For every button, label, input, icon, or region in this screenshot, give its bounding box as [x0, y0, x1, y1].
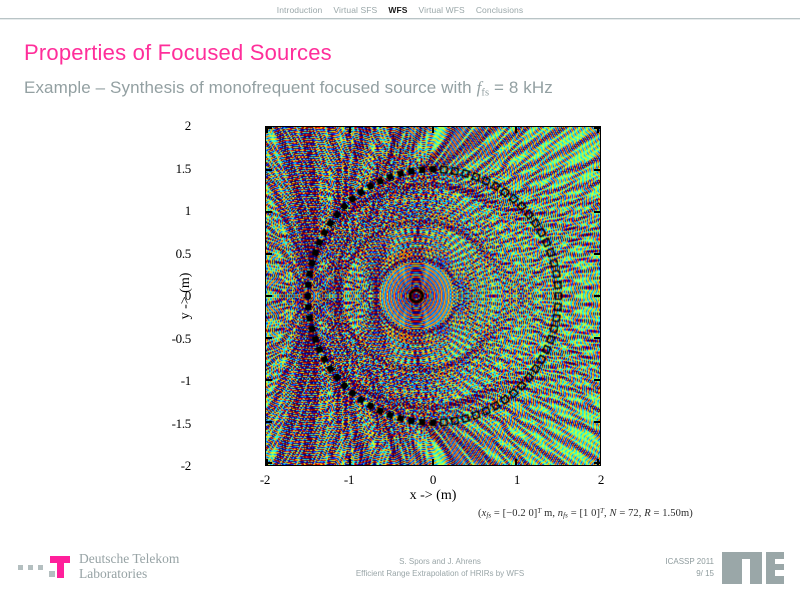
nav-item-virtual-sfs[interactable]: Virtual SFS	[333, 5, 377, 15]
subtitle-text-pre: Example – Synthesis of monofrequent focu…	[24, 78, 477, 97]
ytick-mark-0-5	[266, 253, 272, 255]
xtick-label-neg1: -1	[344, 472, 354, 488]
xtick-mark-top-neg1	[349, 127, 351, 133]
ytick-label-2: 2	[185, 118, 191, 134]
logo-dots-icon	[18, 565, 43, 570]
ytick-mark-1-5	[266, 169, 272, 171]
ytick-mark-neg0-5	[266, 337, 272, 339]
figure-caption: (xfs = [−0.2 0]T m, nfs = [1 0]T, N = 72…	[478, 508, 693, 520]
xtick-label-1: 1	[514, 472, 520, 488]
footer-page-number: 9/ 15	[665, 568, 714, 580]
ytick-mark-neg1-5	[266, 421, 272, 423]
logo-line-1: Deutsche Telekom	[79, 552, 179, 567]
nav-item-conclusions[interactable]: Conclusions	[476, 5, 523, 15]
xtick-mark-top-0	[432, 127, 434, 133]
ytick-mark-right-neg1-5	[594, 421, 600, 423]
xtick-mark-neg1	[349, 459, 351, 465]
deutsche-telekom-logo: Deutsche Telekom Laboratories	[18, 550, 179, 584]
top-navigation: Introduction Virtual SFS WFS Virtual WFS…	[0, 0, 800, 19]
ytick-label-0-5: 0.5	[176, 246, 191, 262]
t-icon-stem	[57, 556, 64, 578]
footer-conference: ICASSP 2011	[665, 556, 714, 568]
plot-area	[265, 126, 601, 466]
xtick-mark-0	[432, 459, 434, 465]
xtick-mark-1	[515, 459, 517, 465]
slide-footer: Deutsche Telekom Laboratories S. Spors a…	[0, 540, 800, 600]
slide-subtitle: Example – Synthesis of monofrequent focu…	[24, 78, 553, 98]
slide-title: Properties of Focused Sources	[24, 40, 332, 66]
caption-N-value: = 72,	[617, 508, 645, 519]
ytick-label-neg0-5: -0.5	[172, 331, 191, 347]
ytick-mark-right-neg0-5	[594, 337, 600, 339]
telekom-t-icon	[48, 555, 72, 579]
xtick-mark-top-neg2	[266, 127, 268, 133]
ytick-mark-right-1	[594, 211, 600, 213]
t-icon-square	[49, 571, 55, 577]
logo-dot-2	[28, 565, 33, 570]
footer-center-block: S. Spors and J. Ahrens Efficient Range E…	[300, 556, 580, 580]
ytick-mark-0	[266, 295, 272, 297]
logo-dot-3	[38, 565, 43, 570]
y-axis-label: y -> (m)	[178, 273, 194, 320]
xtick-mark-top-1	[515, 127, 517, 133]
caption-symbol-N: N	[609, 508, 616, 519]
ytick-mark-neg1	[266, 379, 272, 381]
x-axis-label: x -> (m)	[410, 488, 457, 504]
sound-field-heatmap	[266, 127, 600, 465]
logo-line-2: Laboratories	[79, 567, 179, 582]
ytick-mark-right-0	[594, 295, 600, 297]
caption-n-value: = [1 0]	[568, 508, 600, 519]
nav-item-introduction[interactable]: Introduction	[277, 5, 323, 15]
xtick-label-neg2: -2	[260, 472, 270, 488]
navigation-divider	[0, 18, 800, 20]
xtick-label-0: 0	[430, 472, 436, 488]
ytick-label-1-5: 1.5	[176, 161, 191, 177]
caption-R-value: = 1.50m)	[651, 508, 693, 519]
ytick-label-neg1-5: -1.5	[172, 416, 191, 432]
xtick-mark-neg2	[266, 459, 268, 465]
logo-wordmark: Deutsche Telekom Laboratories	[79, 552, 179, 581]
xtick-mark-2	[597, 459, 599, 465]
caption-unit-1: m,	[541, 508, 557, 519]
xtick-label-2: 2	[598, 472, 604, 488]
footer-right-block: ICASSP 2011 9/ 15	[665, 556, 714, 580]
caption-x-value: = [−0.2 0]	[491, 508, 537, 519]
ytick-label-1: 1	[185, 203, 191, 219]
ytick-label-neg1: -1	[181, 373, 191, 389]
footer-paper-title: Efficient Range Extrapolation of HRIRs b…	[300, 568, 580, 580]
ytick-mark-right-neg1	[594, 379, 600, 381]
ytick-mark-right-0-5	[594, 253, 600, 255]
sound-field-figure: 2 1.5 1 0.5 0 -0.5 -1 -1.5 -2 -2 -1 0 1 …	[190, 118, 610, 508]
xtick-mark-top-2	[597, 127, 599, 133]
ytick-mark-right-1-5	[594, 169, 600, 171]
footer-authors: S. Spors and J. Ahrens	[300, 556, 580, 568]
tu-berlin-logo-icon	[720, 548, 786, 588]
subtitle-text-post: = 8 kHz	[489, 78, 553, 97]
ytick-mark-1	[266, 211, 272, 213]
nav-item-wfs[interactable]: WFS	[388, 5, 407, 15]
ytick-label-neg2: -2	[181, 458, 191, 474]
nav-item-virtual-wfs[interactable]: Virtual WFS	[419, 5, 465, 15]
logo-dot-1	[18, 565, 23, 570]
subtitle-symbol-f: ffs	[477, 78, 490, 97]
